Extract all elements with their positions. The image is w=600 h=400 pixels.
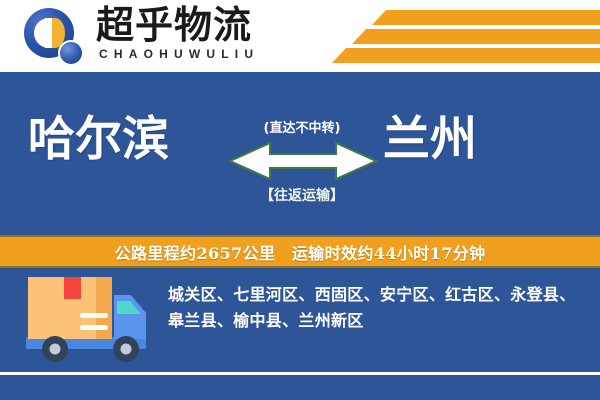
coverage-districts-text: 城关区、七里河区、西固区、安宁区、红古区、永登县、皋兰县、榆中县、兰州新区 <box>168 282 588 334</box>
origin-city-label: 哈尔滨 <box>28 111 169 169</box>
route-section: 哈尔滨 (直达不中转) 【往返运输】 兰州 <box>0 72 600 235</box>
logistics-route-poster: 超乎物流 CHAOHUWULIU 哈尔滨 (直达不中转) 【往返运输】 兰州 公… <box>0 0 600 400</box>
brand-name-chinese: 超乎物流 <box>96 4 252 46</box>
double-headed-arrow-icon <box>228 140 378 182</box>
logo-dot-shape <box>58 40 84 66</box>
poster-header: 超乎物流 CHAOHUWULIU <box>0 0 600 72</box>
destination-city-label: 兰州 <box>383 111 477 169</box>
coverage-section: 城关区、七里河区、西固区、安宁区、红古区、永登县、皋兰县、榆中县、兰州新区 <box>0 268 600 400</box>
header-stripes-decoration <box>300 8 600 66</box>
distance-duration-text: 公路里程约2657公里 运输时效约44小时17分钟 <box>114 240 485 264</box>
distance-duration-band: 公路里程约2657公里 运输时效约44小时17分钟 <box>0 235 600 268</box>
direct-route-note: (直达不中转) <box>238 117 366 136</box>
chaohu-logistics-logo-icon <box>22 7 84 65</box>
brand-name-pinyin: CHAOHUWULIU <box>99 47 259 61</box>
stripe-3 <box>332 48 600 63</box>
stripe-2 <box>352 29 600 44</box>
road-line-decoration <box>0 372 600 375</box>
round-trip-note: 【往返运输】 <box>234 185 370 205</box>
stripe-1 <box>372 10 600 25</box>
delivery-truck-icon <box>22 275 154 373</box>
